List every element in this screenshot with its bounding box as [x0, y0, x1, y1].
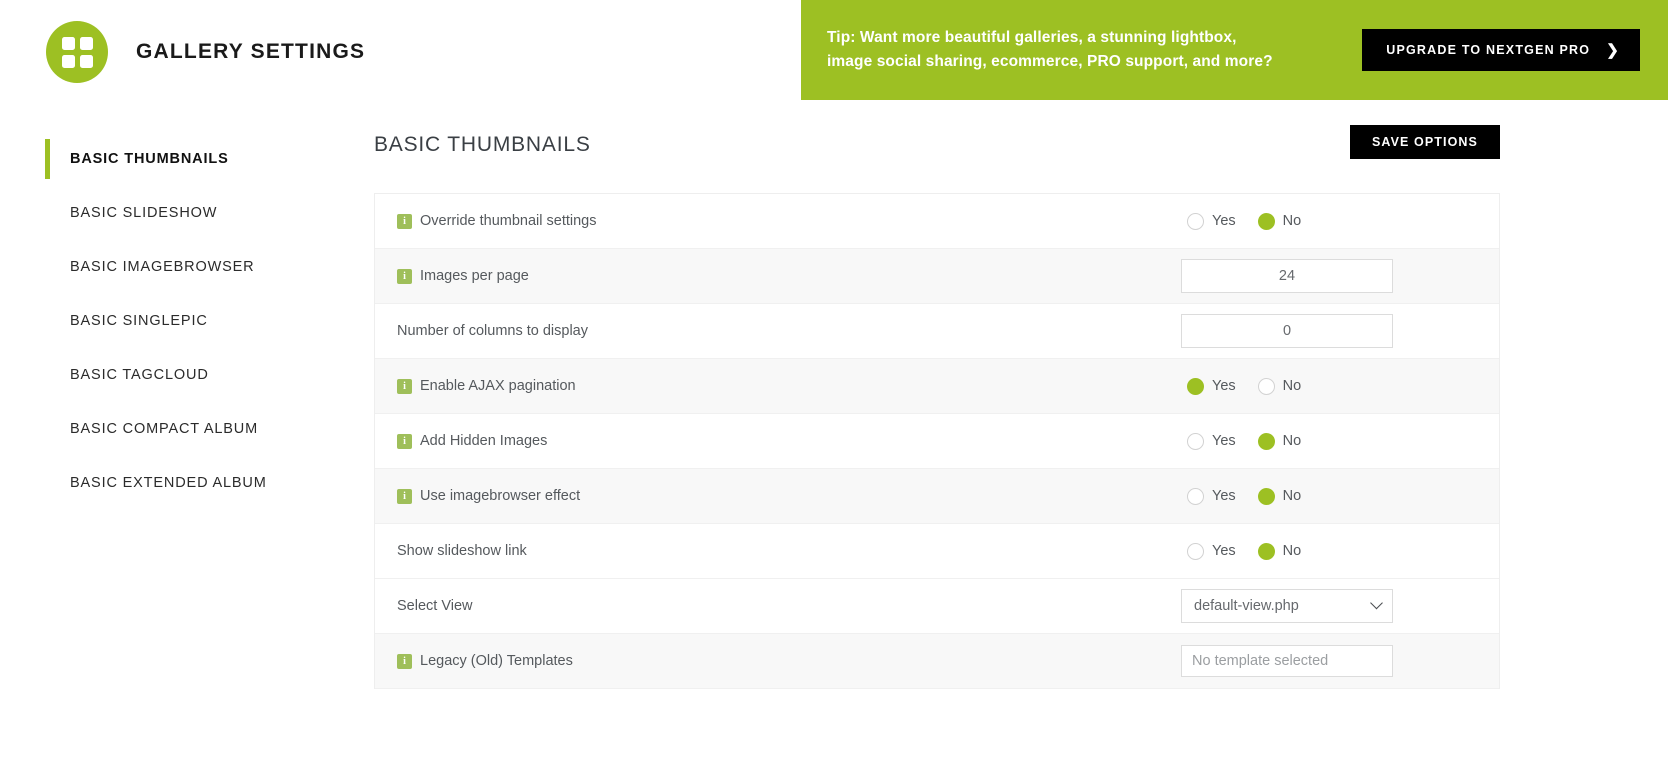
radio-dot-no[interactable]	[1258, 213, 1275, 230]
setting-row-images-per-page: i Images per page	[375, 249, 1499, 304]
promo-line-2: image social sharing, ecommerce, PRO sup…	[827, 53, 1273, 70]
radio-label-no: No	[1283, 378, 1302, 394]
radio-label-no: No	[1283, 543, 1302, 559]
sidebar-item-basic-tagcloud[interactable]: BASIC TAGCLOUD	[0, 348, 330, 402]
radio-group-override-thumbnail-settings: Yes No	[979, 213, 1301, 230]
radio-group-add-hidden-images: Yes No	[979, 433, 1301, 450]
setting-label: Override thumbnail settings	[420, 213, 597, 229]
radio-dot-no[interactable]	[1258, 488, 1275, 505]
setting-control	[979, 259, 1479, 293]
info-icon[interactable]: i	[397, 654, 412, 669]
setting-label-wrap: i Override thumbnail settings	[397, 213, 979, 229]
number-of-columns-input[interactable]	[1181, 314, 1393, 348]
upgrade-to-nextgen-pro-button[interactable]: UPGRADE TO NEXTGEN PRO ❯	[1362, 29, 1640, 71]
setting-label-wrap: Select View	[397, 598, 979, 614]
setting-row-legacy-templates: i Legacy (Old) Templates	[375, 634, 1499, 689]
sidebar-item-basic-imagebrowser[interactable]: BASIC IMAGEBROWSER	[0, 240, 330, 294]
setting-label: Number of columns to display	[397, 323, 588, 339]
brand: GALLERY SETTINGS	[46, 21, 365, 83]
radio-group-show-slideshow-link: Yes No	[979, 543, 1301, 560]
setting-label-wrap: i Add Hidden Images	[397, 433, 979, 449]
top-bar: GALLERY SETTINGS Tip: Want more beautifu…	[0, 0, 1668, 105]
radio-group-enable-ajax-pagination: Yes No	[979, 378, 1301, 395]
setting-label: Legacy (Old) Templates	[420, 653, 573, 669]
section-title: BASIC THUMBNAILS	[374, 125, 591, 157]
setting-label-wrap: Show slideshow link	[397, 543, 979, 559]
setting-label-wrap: i Enable AJAX pagination	[397, 378, 979, 394]
sidebar-item-label: BASIC SLIDESHOW	[70, 205, 217, 221]
images-per-page-input[interactable]	[1181, 259, 1393, 293]
setting-label-wrap: i Use imagebrowser effect	[397, 488, 979, 504]
sidebar-item-label: BASIC SINGLEPIC	[70, 313, 208, 329]
radio-option-no[interactable]: No	[1258, 543, 1302, 560]
main-header: BASIC THUMBNAILS SAVE OPTIONS	[374, 125, 1500, 193]
setting-control: Yes No	[979, 488, 1479, 505]
setting-label: Select View	[397, 598, 473, 614]
setting-control	[979, 645, 1479, 677]
radio-dot-yes[interactable]	[1187, 543, 1204, 560]
setting-row-number-of-columns: Number of columns to display	[375, 304, 1499, 359]
setting-label-wrap: i Legacy (Old) Templates	[397, 653, 979, 669]
setting-row-select-view: Select View default-view.php	[375, 579, 1499, 634]
radio-option-yes[interactable]: Yes	[1187, 213, 1236, 230]
setting-label-wrap: Number of columns to display	[397, 323, 979, 339]
info-icon[interactable]: i	[397, 434, 412, 449]
sidebar: BASIC THUMBNAILS BASIC SLIDESHOW BASIC I…	[0, 105, 330, 782]
radio-dot-yes[interactable]	[1187, 378, 1204, 395]
body: BASIC THUMBNAILS BASIC SLIDESHOW BASIC I…	[0, 105, 1668, 782]
radio-label-no: No	[1283, 213, 1302, 229]
setting-label: Enable AJAX pagination	[420, 378, 576, 394]
radio-label-yes: Yes	[1212, 433, 1236, 449]
setting-label: Add Hidden Images	[420, 433, 547, 449]
legacy-templates-input[interactable]	[1181, 645, 1393, 677]
settings-table: i Override thumbnail settings Yes No	[374, 193, 1500, 689]
setting-control: Yes No	[979, 433, 1479, 450]
promo-text: Tip: Want more beautiful galleries, a st…	[827, 26, 1273, 74]
setting-row-override-thumbnail-settings: i Override thumbnail settings Yes No	[375, 194, 1499, 249]
radio-option-no[interactable]: No	[1258, 433, 1302, 450]
upgrade-button-label: UPGRADE TO NEXTGEN PRO	[1386, 43, 1590, 57]
gallery-settings-page: GALLERY SETTINGS Tip: Want more beautifu…	[0, 0, 1668, 782]
sidebar-item-label: BASIC TAGCLOUD	[70, 367, 209, 383]
sidebar-item-basic-singlepic[interactable]: BASIC SINGLEPIC	[0, 294, 330, 348]
radio-option-yes[interactable]: Yes	[1187, 543, 1236, 560]
radio-option-yes[interactable]: Yes	[1187, 488, 1236, 505]
radio-label-yes: Yes	[1212, 543, 1236, 559]
setting-row-use-imagebrowser-effect: i Use imagebrowser effect Yes No	[375, 469, 1499, 524]
setting-row-show-slideshow-link: Show slideshow link Yes No	[375, 524, 1499, 579]
sidebar-item-label: BASIC THUMBNAILS	[70, 151, 229, 167]
main-content: BASIC THUMBNAILS SAVE OPTIONS i Override…	[330, 105, 1668, 782]
setting-control: default-view.php	[979, 589, 1479, 623]
radio-option-no[interactable]: No	[1258, 213, 1302, 230]
sidebar-item-label: BASIC IMAGEBROWSER	[70, 259, 255, 275]
grid-logo-icon	[46, 21, 108, 83]
radio-dot-yes[interactable]	[1187, 433, 1204, 450]
radio-option-yes[interactable]: Yes	[1187, 378, 1236, 395]
page-title: GALLERY SETTINGS	[136, 40, 365, 64]
promo-banner: Tip: Want more beautiful galleries, a st…	[801, 0, 1668, 100]
radio-dot-yes[interactable]	[1187, 488, 1204, 505]
setting-label: Images per page	[420, 268, 529, 284]
radio-dot-no[interactable]	[1258, 543, 1275, 560]
setting-control	[979, 314, 1479, 348]
sidebar-item-label: BASIC EXTENDED ALBUM	[70, 475, 267, 491]
info-icon[interactable]: i	[397, 214, 412, 229]
setting-control: Yes No	[979, 543, 1479, 560]
setting-label: Show slideshow link	[397, 543, 527, 559]
radio-label-no: No	[1283, 433, 1302, 449]
radio-option-yes[interactable]: Yes	[1187, 433, 1236, 450]
sidebar-item-basic-slideshow[interactable]: BASIC SLIDESHOW	[0, 186, 330, 240]
sidebar-item-label: BASIC COMPACT ALBUM	[70, 421, 258, 437]
setting-label-wrap: i Images per page	[397, 268, 979, 284]
radio-label-yes: Yes	[1212, 378, 1236, 394]
radio-label-yes: Yes	[1212, 488, 1236, 504]
save-options-button[interactable]: SAVE OPTIONS	[1350, 125, 1500, 159]
radio-dot-no[interactable]	[1258, 433, 1275, 450]
radio-option-no[interactable]: No	[1258, 488, 1302, 505]
radio-dot-yes[interactable]	[1187, 213, 1204, 230]
setting-row-add-hidden-images: i Add Hidden Images Yes No	[375, 414, 1499, 469]
setting-label: Use imagebrowser effect	[420, 488, 580, 504]
select-view-dropdown[interactable]: default-view.php	[1181, 589, 1393, 623]
info-icon[interactable]: i	[397, 489, 412, 504]
setting-row-enable-ajax-pagination: i Enable AJAX pagination Yes No	[375, 359, 1499, 414]
radio-option-no[interactable]: No	[1258, 378, 1302, 395]
promo-line-1: Tip: Want more beautiful galleries, a st…	[827, 29, 1237, 46]
chevron-right-icon: ❯	[1606, 43, 1620, 58]
radio-group-use-imagebrowser-effect: Yes No	[979, 488, 1301, 505]
select-view-wrap: default-view.php	[1181, 589, 1393, 623]
sidebar-item-basic-compact-album[interactable]: BASIC COMPACT ALBUM	[0, 402, 330, 456]
info-icon[interactable]: i	[397, 269, 412, 284]
info-icon[interactable]: i	[397, 379, 412, 394]
radio-label-yes: Yes	[1212, 213, 1236, 229]
setting-control: Yes No	[979, 378, 1479, 395]
sidebar-item-basic-extended-album[interactable]: BASIC EXTENDED ALBUM	[0, 456, 330, 510]
setting-control: Yes No	[979, 213, 1479, 230]
radio-label-no: No	[1283, 488, 1302, 504]
radio-dot-no[interactable]	[1258, 378, 1275, 395]
sidebar-item-basic-thumbnails[interactable]: BASIC THUMBNAILS	[0, 132, 330, 186]
